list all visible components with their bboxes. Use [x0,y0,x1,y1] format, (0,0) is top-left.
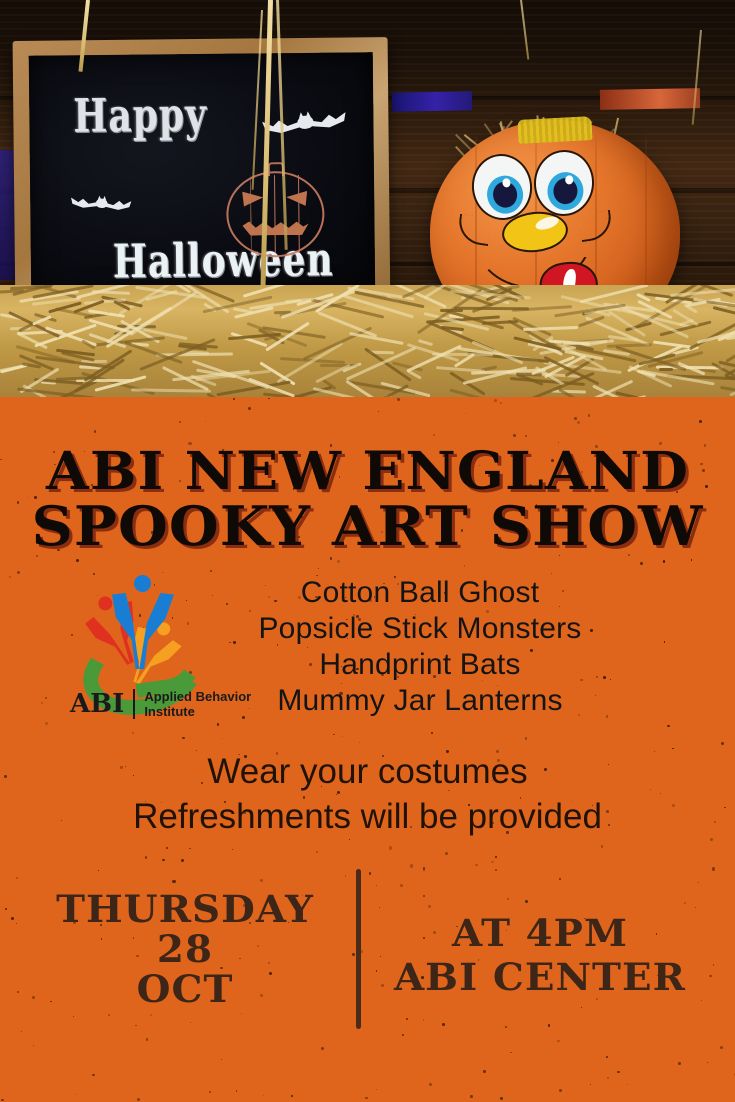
event-month: OCT [33,969,338,1009]
title-line-2: SPOOKY ART SHOW [0,499,735,553]
vertical-divider [356,869,361,1029]
list-item: Handprint Bats [185,647,655,683]
event-poster: Happy Halloween [0,0,735,1102]
event-date-block: THURSDAY 28 OCT [40,889,330,1009]
event-details: THURSDAY 28 OCT AT 4PM ABI CENTER [0,867,735,1042]
title-line-1: ABI NEW ENGLAND [0,445,735,499]
straw-bed [0,285,735,397]
event-notes: Wear your costumes Refreshments will be … [0,749,735,839]
logo-divider [133,689,135,719]
logo-and-activities-row: ABI Applied Behavior Institute Cotton Ba… [0,573,735,729]
halloween-photo: Happy Halloween [0,0,735,397]
note-costumes: Wear your costumes [0,749,735,794]
logo-abi-text: ABI [70,689,124,719]
note-refreshments: Refreshments will be provided [0,794,735,839]
chalkboard-text-happy: Happy [73,88,207,143]
chalkboard-frame: Happy Halloween [13,37,391,316]
event-time: AT 4PM [372,911,708,955]
list-item: Cotton Ball Ghost [185,575,655,611]
event-venue: ABI CENTER [372,955,708,999]
list-item: Popsicle Stick Monsters [185,611,655,647]
poster-body: ABI NEW ENGLAND SPOOKY ART SHOW [0,397,735,1102]
chalkboard-face: Happy Halloween [29,52,376,298]
red-strip [600,88,700,110]
event-location-block: AT 4PM ABI CENTER [380,911,700,999]
list-item: Mummy Jar Lanterns [185,683,655,719]
abi-logo-mark [78,573,196,683]
event-weekday: THURSDAY [33,889,338,929]
blue-strip [392,91,472,111]
event-day: 28 [33,929,338,969]
hand-icon [82,629,194,683]
burlap-hat [517,116,592,144]
activities-list: Cotton Ball Ghost Popsicle Stick Monster… [185,575,655,719]
poster-title: ABI NEW ENGLAND SPOOKY ART SHOW [0,445,735,553]
